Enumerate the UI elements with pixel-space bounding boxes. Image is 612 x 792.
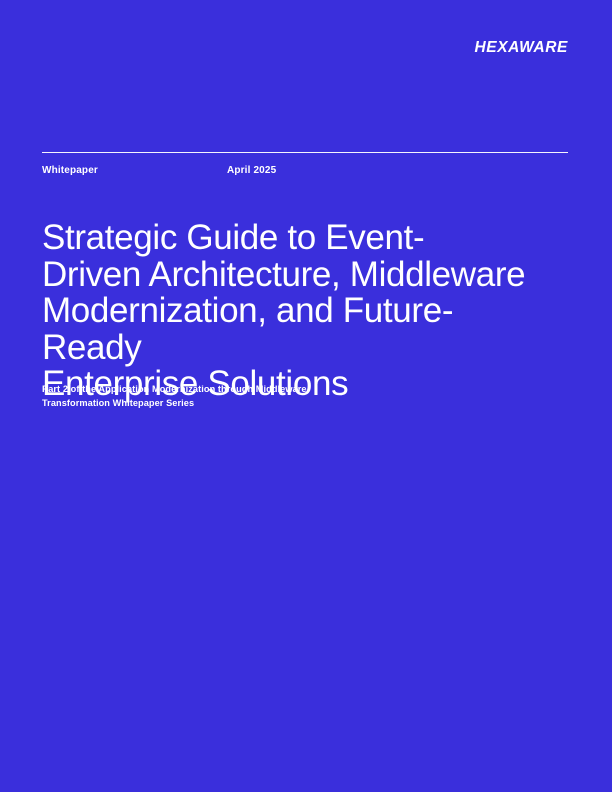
meta-row: Whitepaper April 2025 [42, 164, 568, 178]
document-type-label: Whitepaper [42, 164, 98, 177]
publication-date-label: April 2025 [227, 164, 276, 177]
whitepaper-cover-page: HEXAWARE Whitepaper April 2025 Strategic… [0, 0, 612, 792]
header-divider-rule [42, 152, 568, 153]
brand-logo: HEXAWARE [42, 40, 568, 56]
page-subtitle: Part 2 of the Application Modernization … [42, 383, 382, 410]
hexaware-wordmark-icon: HEXAWARE [474, 40, 568, 56]
page-title: Strategic Guide to Event- Driven Archite… [42, 220, 547, 403]
